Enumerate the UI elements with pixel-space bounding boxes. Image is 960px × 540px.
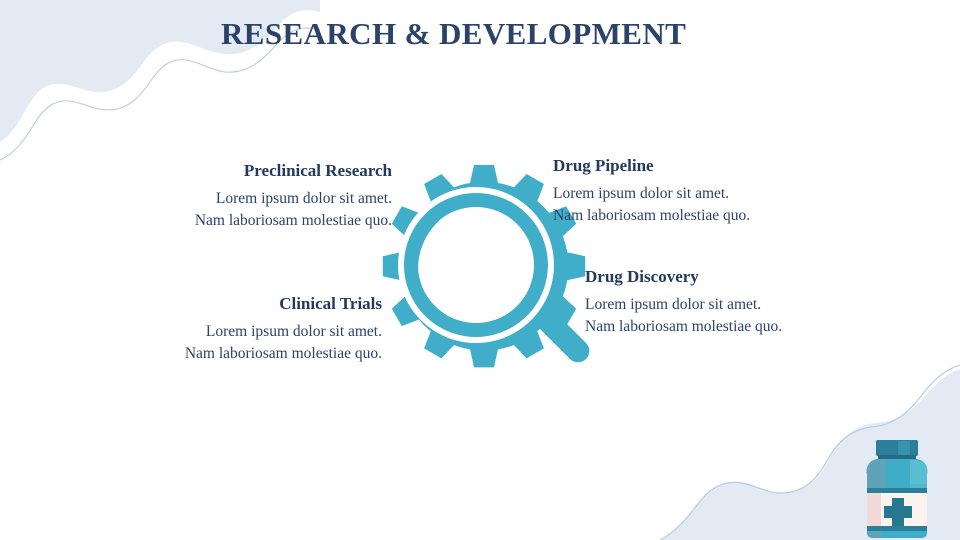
block-body-discovery: Lorem ipsum dolor sit amet. Nam laborios… [585,294,885,338]
block-body-clinical: Lorem ipsum dolor sit amet. Nam laborios… [100,321,382,365]
body-line: Lorem ipsum dolor sit amet. [110,188,392,210]
slide-canvas: RESEARCH & DEVELOPMENT Preclinical Resea… [0,0,960,540]
text-block-preclinical-research: Preclinical Research Lorem ipsum dolor s… [110,161,392,232]
body-line: Nam laboriosam molestiae quo. [110,210,392,232]
text-block-clinical-trials: Clinical Trials Lorem ipsum dolor sit am… [100,294,382,365]
block-heading-preclinical: Preclinical Research [110,161,392,181]
page-title: RESEARCH & DEVELOPMENT [221,16,686,52]
body-line: Nam laboriosam molestiae quo. [100,343,382,365]
pill-bottle-icon [858,440,936,540]
text-block-drug-pipeline: Drug Pipeline Lorem ipsum dolor sit amet… [553,156,853,227]
block-heading-pipeline: Drug Pipeline [553,156,853,176]
text-block-drug-discovery: Drug Discovery Lorem ipsum dolor sit ame… [585,267,885,338]
body-line: Lorem ipsum dolor sit amet. [100,321,382,343]
block-heading-clinical: Clinical Trials [100,294,382,314]
block-heading-discovery: Drug Discovery [585,267,885,287]
body-line: Lorem ipsum dolor sit amet. [585,294,885,316]
block-body-pipeline: Lorem ipsum dolor sit amet. Nam laborios… [553,183,853,227]
body-line: Nam laboriosam molestiae quo. [585,316,885,338]
body-line: Lorem ipsum dolor sit amet. [553,183,853,205]
body-line: Nam laboriosam molestiae quo. [553,205,853,227]
block-body-preclinical: Lorem ipsum dolor sit amet. Nam laborios… [110,188,392,232]
